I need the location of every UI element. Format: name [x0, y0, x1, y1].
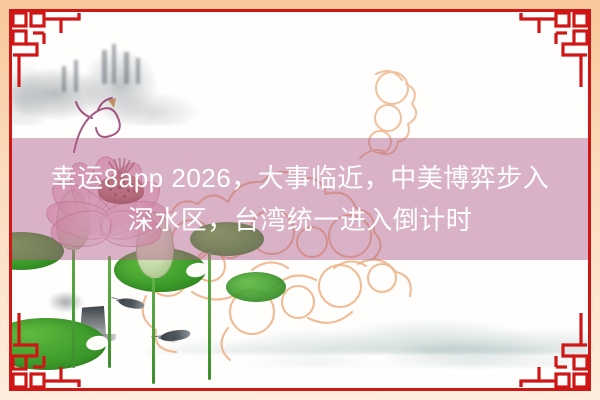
headline-text: 幸运8app 2026，大事临近，中美博弈步入 深水区，台湾统一进入倒计时	[12, 138, 588, 260]
lotus-stem	[152, 272, 155, 384]
headline-line-1: 幸运8app 2026，大事临近，中美博弈步入	[51, 158, 549, 198]
headline-line-2: 深水区，台湾统一进入倒计时	[128, 200, 473, 240]
lotus-stem	[108, 256, 111, 368]
lotus-leaf	[226, 272, 286, 302]
corner-ornament-icon	[505, 305, 591, 391]
corner-ornament-icon	[505, 9, 591, 95]
banner-canvas: 幸运8app 2026，大事临近，中美博弈步入 深水区，台湾统一进入倒计时	[0, 0, 600, 400]
corner-ornament-icon	[9, 305, 95, 391]
lotus-stem	[208, 252, 211, 380]
corner-ornament-icon	[9, 9, 95, 95]
